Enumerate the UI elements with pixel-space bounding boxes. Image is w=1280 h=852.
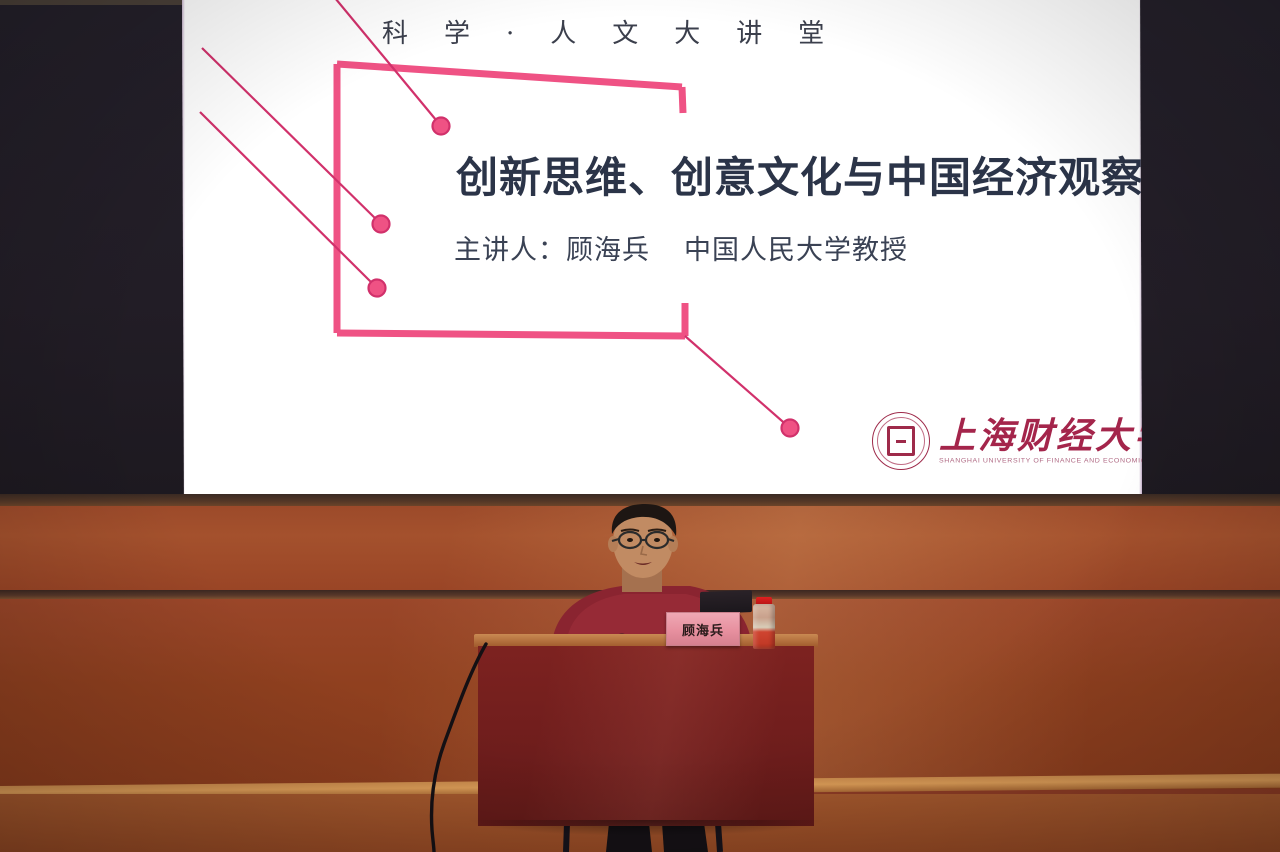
- bottle-body: [753, 604, 775, 649]
- stage-area: [0, 494, 1280, 852]
- slide-eyebrow: 科 学 · 人 文 大 讲 堂: [382, 13, 829, 50]
- slide-title: 创新思维、创意文化与中国经济观察: [456, 144, 1142, 205]
- ceiling-trim-strip: [0, 0, 200, 5]
- slide-subtitle-affiliation: 中国人民大学教授: [684, 235, 908, 266]
- water-bottle: [751, 597, 777, 649]
- lecture-hall-photo: 科 学 · 人 文 大 讲 堂 创新思维、创意文化与中国经济观察 主讲人：顾海兵…: [0, 0, 1280, 852]
- university-seal-icon: [872, 412, 930, 470]
- projection-screen: 科 学 · 人 文 大 讲 堂 创新思维、创意文化与中国经济观察 主讲人：顾海兵…: [182, 0, 1142, 494]
- university-name-en: SHANGHAI UNIVERSITY OF FINANCE AND ECONO…: [939, 458, 1142, 464]
- seal-inner-mark: [887, 426, 915, 456]
- slide-subtitle: 主讲人：顾海兵中国人民大学教授: [454, 228, 908, 267]
- university-logo-text: 上海财经大学 SHANGHAI UNIVERSITY OF FINANCE AN…: [939, 418, 1142, 465]
- university-logo: 上海财经大学 SHANGHAI UNIVERSITY OF FINANCE AN…: [872, 405, 1134, 477]
- laptop: [700, 590, 752, 614]
- slide-subtitle-speaker: 主讲人：顾海兵: [454, 235, 650, 266]
- lecture-desk: [474, 634, 818, 852]
- speaker-nameplate-text: 顾海兵: [682, 620, 724, 639]
- speaker-nameplate: 顾海兵: [666, 612, 740, 646]
- desk-floor-shadow: [466, 820, 826, 836]
- desk-front-sheen: [478, 646, 814, 826]
- university-name-cn: 上海财经大学: [939, 418, 1142, 454]
